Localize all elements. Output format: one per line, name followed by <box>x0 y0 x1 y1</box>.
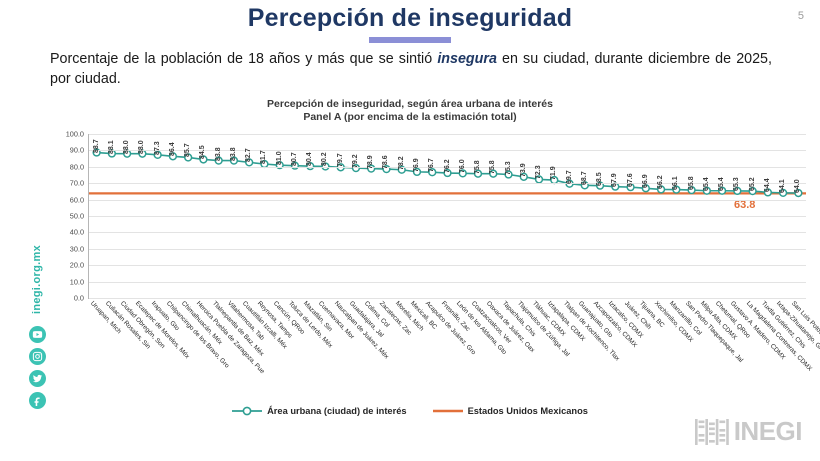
chart-subtitle: Panel A (por encima de la estimación tot… <box>0 111 820 123</box>
gridline <box>89 200 806 201</box>
gridline <box>89 232 806 233</box>
y-axis-tick: 0.0 <box>74 294 84 303</box>
data-point-label: 81.0 <box>276 152 283 166</box>
y-axis-tick: 30.0 <box>70 244 84 253</box>
data-point-label: 73.9 <box>520 163 527 177</box>
data-point-label: 65.4 <box>703 177 710 191</box>
data-point-label: 79.2 <box>352 154 359 168</box>
y-axis-tick: 90.0 <box>70 146 84 155</box>
data-point-label: 76.2 <box>444 159 451 173</box>
gridline <box>89 282 806 283</box>
data-point-label: 68.7 <box>581 172 588 186</box>
data-point-label: 67.6 <box>627 174 634 188</box>
data-point-label: 66.1 <box>672 176 679 190</box>
y-axis-tick: 20.0 <box>70 261 84 270</box>
data-point-label: 88.7 <box>93 139 100 153</box>
data-point-label: 69.7 <box>566 170 573 184</box>
data-point-label: 87.3 <box>154 141 161 155</box>
data-point-label: 68.5 <box>596 172 603 186</box>
data-point-label: 76.0 <box>459 160 466 174</box>
line-marker <box>433 405 463 417</box>
data-point-label: 88.1 <box>108 140 115 154</box>
data-point-label: 66.2 <box>657 176 664 190</box>
y-axis-tick: 60.0 <box>70 195 84 204</box>
y-axis-tick: 80.0 <box>70 162 84 171</box>
gridline <box>89 298 806 299</box>
abacus-icon <box>695 419 729 445</box>
data-point-label: 84.5 <box>199 146 206 160</box>
data-point-label: 78.6 <box>382 155 389 169</box>
data-point-label: 75.3 <box>505 161 512 175</box>
data-point-label: 76.7 <box>428 159 435 173</box>
title-underline-rule <box>369 37 451 43</box>
gridline <box>89 150 806 151</box>
page-number: 5 <box>798 10 804 22</box>
legend-label: Área urbana (ciudad) de interés <box>267 406 407 416</box>
data-point-label: 72.3 <box>535 166 542 180</box>
data-point-label: 85.7 <box>184 144 191 158</box>
gridline <box>89 249 806 250</box>
subtitle-emphasis: insegura <box>437 51 497 67</box>
y-axis-tick: 70.0 <box>70 179 84 188</box>
data-point-label: 78.2 <box>398 156 405 170</box>
data-point-label: 88.0 <box>138 140 145 154</box>
data-point-label: 83.8 <box>215 147 222 161</box>
twitter-icon[interactable] <box>29 370 46 387</box>
site-url-label[interactable]: inegi.org.mx <box>31 245 43 314</box>
data-point-label: 83.8 <box>230 147 237 161</box>
data-point-label: 66.9 <box>642 175 649 189</box>
legend-item[interactable]: Área urbana (ciudad) de interés <box>232 405 407 417</box>
facebook-icon[interactable] <box>29 392 46 409</box>
subtitle-text-part1: Porcentaje de la población de 18 años y … <box>50 51 437 67</box>
plot-area: 63.8 88.788.188.088.087.386.485.784.583.… <box>88 134 806 299</box>
y-axis: 0.010.020.030.040.050.060.070.080.090.01… <box>58 134 86 299</box>
data-point-label: 65.8 <box>688 176 695 190</box>
slide-canvas: Percepción de inseguridad 5 Porcentaje d… <box>0 0 820 461</box>
y-axis-tick: 40.0 <box>70 228 84 237</box>
data-point-label: 64.4 <box>764 179 771 193</box>
inegi-logo: INEGI <box>695 416 802 447</box>
data-point-label: 67.9 <box>611 173 618 187</box>
data-point-label: 81.7 <box>260 150 267 164</box>
chart-title: Percepción de inseguridad, según área ur… <box>0 98 820 110</box>
y-axis-tick: 10.0 <box>70 277 84 286</box>
data-point-label: 65.3 <box>733 177 740 191</box>
data-point-label: 86.4 <box>169 143 176 157</box>
gridline <box>89 265 806 266</box>
data-point-label: 78.9 <box>367 155 374 169</box>
gridline <box>89 183 806 184</box>
data-point-label: 76.9 <box>413 158 420 172</box>
instagram-icon[interactable] <box>29 348 46 365</box>
legend-label: Estados Unidos Mexicanos <box>468 406 588 416</box>
line-circle-marker <box>232 405 262 417</box>
data-point-label: 65.2 <box>749 177 756 191</box>
sidebar-social-strip: inegi.org.mx <box>24 245 50 445</box>
data-point-label: 71.9 <box>550 166 557 180</box>
data-point-label: 64.0 <box>794 179 801 193</box>
data-point-label: 75.8 <box>489 160 496 174</box>
data-point-label: 80.2 <box>321 153 328 167</box>
data-point-label: 65.4 <box>718 177 725 191</box>
data-point-label: 80.7 <box>291 152 298 166</box>
gridline <box>89 216 806 217</box>
data-point-label: 79.7 <box>337 154 344 168</box>
data-point-label: 80.4 <box>306 153 313 167</box>
y-axis-tick: 100.0 <box>66 130 84 139</box>
chart-container: 0.010.020.030.040.050.060.070.080.090.01… <box>58 134 806 299</box>
page-title: Percepción de inseguridad <box>0 4 820 33</box>
national-value-annotation: 63.8 <box>734 199 755 211</box>
data-point-label: 64.1 <box>779 179 786 193</box>
x-axis-labels: Uruapan, MichCuliacán Rosales, SinCiudad… <box>88 300 806 395</box>
gridline <box>89 134 806 135</box>
data-point-label: 75.8 <box>474 160 481 174</box>
data-point-label: 82.7 <box>245 149 252 163</box>
y-axis-tick: 50.0 <box>70 212 84 221</box>
data-point-label: 88.0 <box>123 140 130 154</box>
inegi-wordmark: INEGI <box>734 416 802 447</box>
slide-subtitle: Porcentaje de la población de 18 años y … <box>50 50 772 89</box>
youtube-icon[interactable] <box>29 326 46 343</box>
legend-item[interactable]: Estados Unidos Mexicanos <box>433 405 588 417</box>
